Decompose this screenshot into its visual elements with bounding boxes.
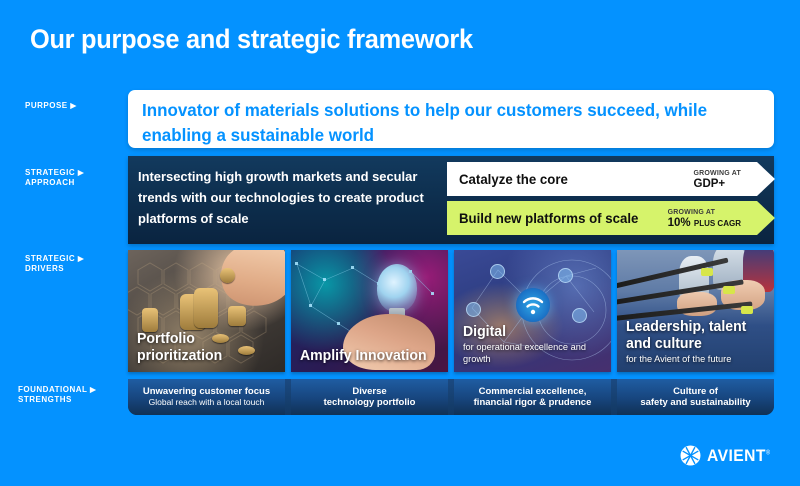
banner-catalyze-label: Catalyze the core — [459, 172, 568, 187]
strength-cell-customer-focus: Unwavering customer focus Global reach w… — [128, 379, 285, 415]
banner-build-new-platforms: Build new platforms of scale GROWING AT … — [447, 201, 775, 235]
rail-label-strategic-drivers: STRATEGIC ▶ DRIVERS — [25, 254, 130, 274]
rail-label-approach-line1: STRATEGIC — [25, 168, 75, 177]
rail-label-found-line2: STRENGTHS — [18, 395, 72, 404]
rail-arrow-icon: ▶ — [90, 385, 96, 394]
wifi-glyph — [516, 288, 550, 322]
strength-diverse-sub: technology portfolio — [324, 397, 416, 408]
banner-build-metric: GROWING AT 10% PLUS CAGR — [668, 207, 741, 229]
banner-catalyze-metric: GROWING AT GDP+ — [694, 168, 742, 190]
strategic-approach-panel: Intersecting high growth markets and sec… — [128, 156, 774, 244]
wifi-icon — [516, 288, 550, 322]
coin-stack-shape — [228, 306, 246, 326]
driver-card-leadership[interactable]: Leadership, talent and culture for the A… — [617, 250, 774, 372]
coin-shape — [220, 268, 235, 283]
driver-card-portfolio-text: Portfolio prioritization — [137, 331, 279, 365]
avient-logo: AVIENT® — [680, 445, 776, 466]
rail-arrow-icon: ▶ — [70, 101, 76, 110]
banner-catalyze-metric-main: GDP+ — [694, 178, 726, 190]
network-node-icon — [466, 302, 481, 317]
driver-card-digital-subtitle: for operational excellence and growth — [463, 342, 601, 365]
coin-stack-shape — [194, 288, 218, 328]
strategic-drivers-row: Portfolio prioritization — [128, 250, 774, 372]
rail-label-purpose: PURPOSE ▶ — [25, 101, 130, 111]
rail-label-drivers-line2: DRIVERS — [25, 264, 64, 273]
driver-card-amplify-text: Amplify Innovation — [300, 348, 442, 365]
coin-stack-shape — [142, 308, 158, 332]
rail-label-foundational-strengths: FOUNDATIONAL ▶ STRENGTHS — [18, 385, 130, 405]
driver-card-amplify-title: Amplify Innovation — [300, 348, 438, 365]
rail-label-drivers-line1: STRATEGIC — [25, 254, 75, 263]
strength-commercial-sub: financial rigor & prudence — [474, 397, 592, 408]
banner-build-metric-value: 10% PLUS CAGR — [668, 218, 741, 229]
driver-card-leadership-text: Leadership, talent and culture for the A… — [626, 319, 768, 366]
driver-card-portfolio-prioritization[interactable]: Portfolio prioritization — [128, 250, 285, 372]
driver-card-digital-text: Digital for operational excellence and g… — [463, 324, 605, 365]
driver-card-leadership-title: Leadership, talent and culture — [626, 319, 764, 353]
lightbulb-shape — [377, 264, 417, 312]
strength-commercial-main: Commercial excellence, — [479, 386, 587, 398]
strength-cell-culture: Culture of safety and sustainability — [617, 379, 774, 415]
oar-blade-shape — [701, 268, 713, 276]
driver-card-portfolio-title: Portfolio prioritization — [137, 331, 275, 365]
banner-build-metric-suffix: PLUS CAGR — [694, 219, 741, 228]
driver-card-digital-title: Digital — [463, 324, 601, 341]
driver-card-digital[interactable]: Digital for operational excellence and g… — [454, 250, 611, 372]
banner-build-label: Build new platforms of scale — [459, 211, 638, 226]
network-node-icon — [572, 308, 587, 323]
avient-wordmark: AVIENT® — [707, 446, 770, 466]
foundational-strengths-row: Unwavering customer focus Global reach w… — [128, 379, 774, 415]
rail-label-strategic-approach: STRATEGIC ▶ APPROACH — [25, 168, 130, 188]
slide-canvas: Our purpose and strategic framework PURP… — [0, 0, 800, 486]
network-node-icon — [558, 268, 573, 283]
avient-wordmark-text: AVIENT — [707, 446, 766, 465]
strength-culture-main: Culture of — [673, 386, 718, 398]
avient-weave-icon — [680, 445, 701, 466]
rail-arrow-icon: ▶ — [78, 254, 84, 263]
oar-blade-shape — [741, 306, 753, 314]
strategic-approach-text: Intersecting high growth markets and sec… — [138, 166, 432, 229]
page-title: Our purpose and strategic framework — [30, 24, 473, 55]
driver-card-leadership-subtitle: for the Avient of the future — [626, 354, 764, 366]
banner-catalyze-the-core: Catalyze the core GROWING AT GDP+ — [447, 162, 775, 196]
banner-build-metric-main: 10% — [668, 217, 691, 229]
strength-customer-focus-sub: Global reach with a local touch — [149, 397, 265, 408]
purpose-statement-card: Innovator of materials solutions to help… — [128, 90, 774, 148]
purpose-statement-text: Innovator of materials solutions to help… — [142, 98, 745, 148]
banner-catalyze-metric-value: GDP+ — [694, 179, 742, 190]
avient-trademark: ® — [766, 450, 771, 456]
strength-cell-diverse-technology: Diverse technology portfolio — [291, 379, 448, 415]
strength-culture-sub: safety and sustainability — [640, 397, 750, 408]
rail-label-purpose-text: PURPOSE — [25, 101, 68, 110]
rail-label-approach-line2: APPROACH — [25, 178, 75, 187]
rail-arrow-icon: ▶ — [78, 168, 84, 177]
strength-diverse-main: Diverse — [352, 386, 386, 398]
oar-blade-shape — [723, 286, 735, 294]
rail-label-found-line1: FOUNDATIONAL — [18, 385, 87, 394]
network-node-icon — [490, 264, 505, 279]
strength-cell-commercial-excellence: Commercial excellence, financial rigor &… — [454, 379, 611, 415]
strength-customer-focus-main: Unwavering customer focus — [143, 386, 270, 398]
driver-card-amplify-innovation[interactable]: Amplify Innovation — [291, 250, 448, 372]
